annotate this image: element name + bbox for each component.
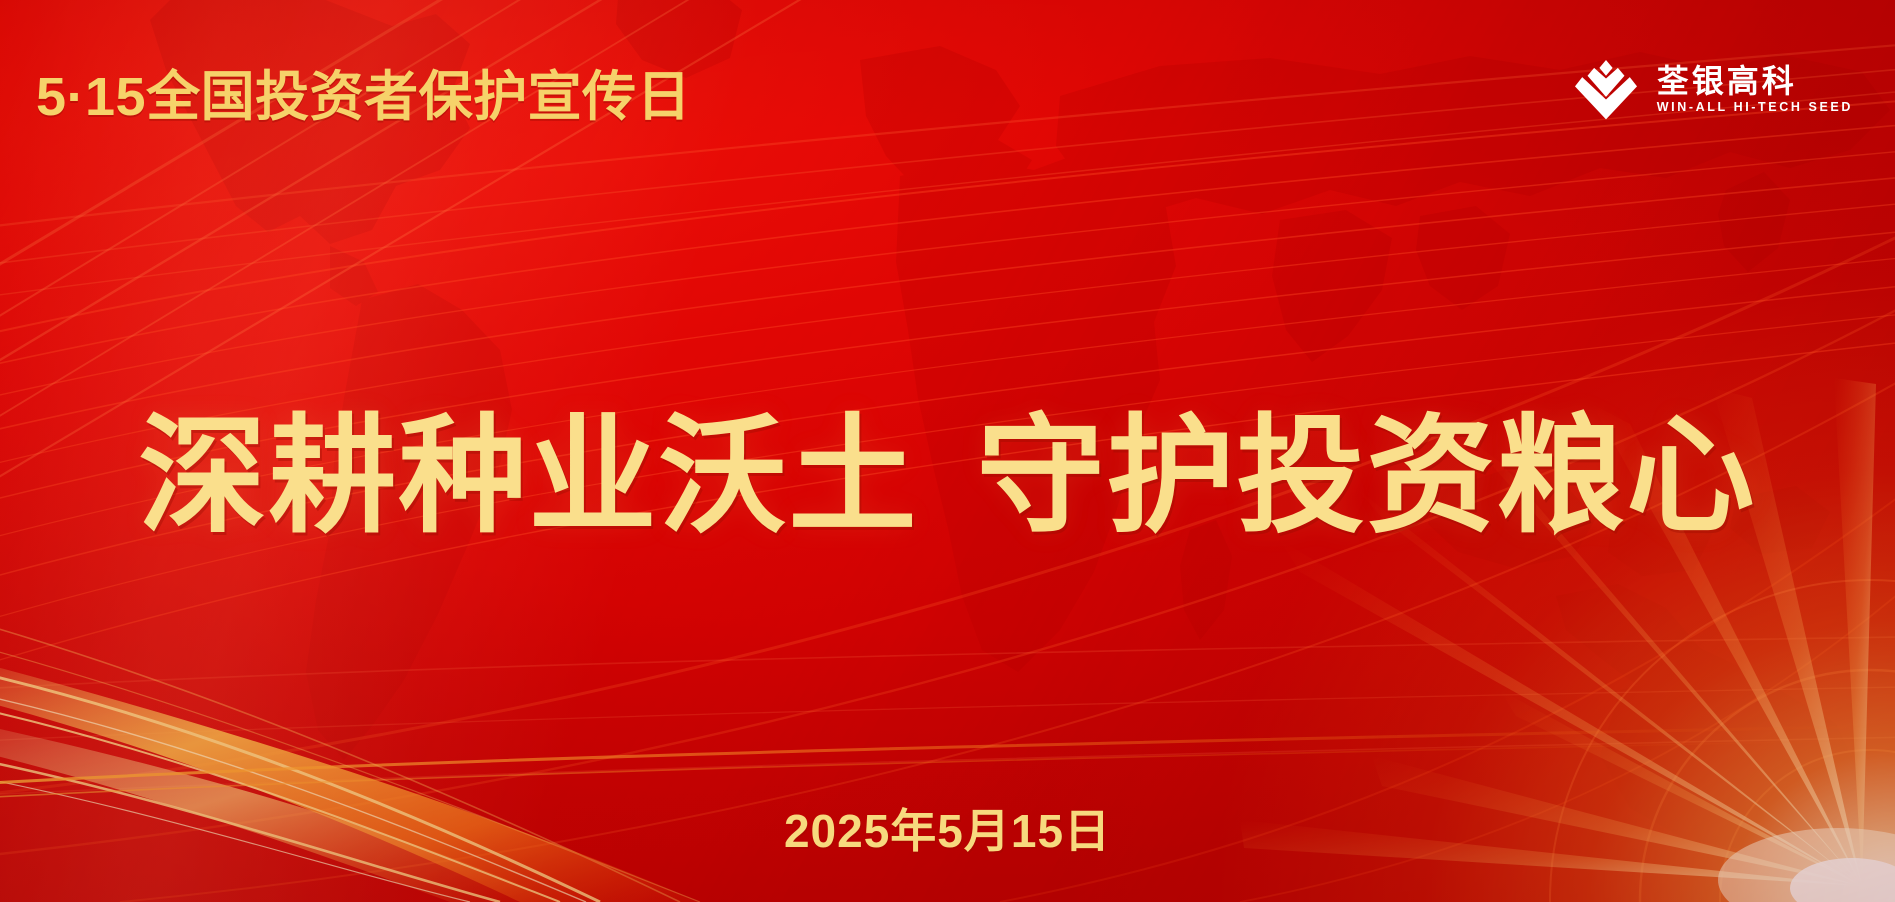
banner-content: 5·15全国投资者保护宣传日 荃银高科 WIN-ALL HI-TECH SEE [0,0,1895,902]
campaign-title: 5·15全国投资者保护宣传日 [36,52,691,131]
headline-phrase-1: 深耕种业沃土 [138,405,918,548]
headline-phrase-2: 守护投资粮心 [977,405,1757,548]
win-all-chevron-logo-icon [1573,56,1639,122]
logo-wordmark: 荃银高科 WIN-ALL HI-TECH SEED [1657,65,1853,113]
company-logo: 荃银高科 WIN-ALL HI-TECH SEED [1573,56,1853,122]
logo-company-name-en: WIN-ALL HI-TECH SEED [1657,101,1853,114]
investor-protection-banner: 5·15全国投资者保护宣传日 荃银高科 WIN-ALL HI-TECH SEE [0,0,1895,902]
main-headline: 深耕种业沃土守护投资粮心 [0,408,1895,546]
logo-company-name-cn: 荃银高科 [1657,65,1797,99]
event-date: 2025年5月15日 [0,795,1895,861]
